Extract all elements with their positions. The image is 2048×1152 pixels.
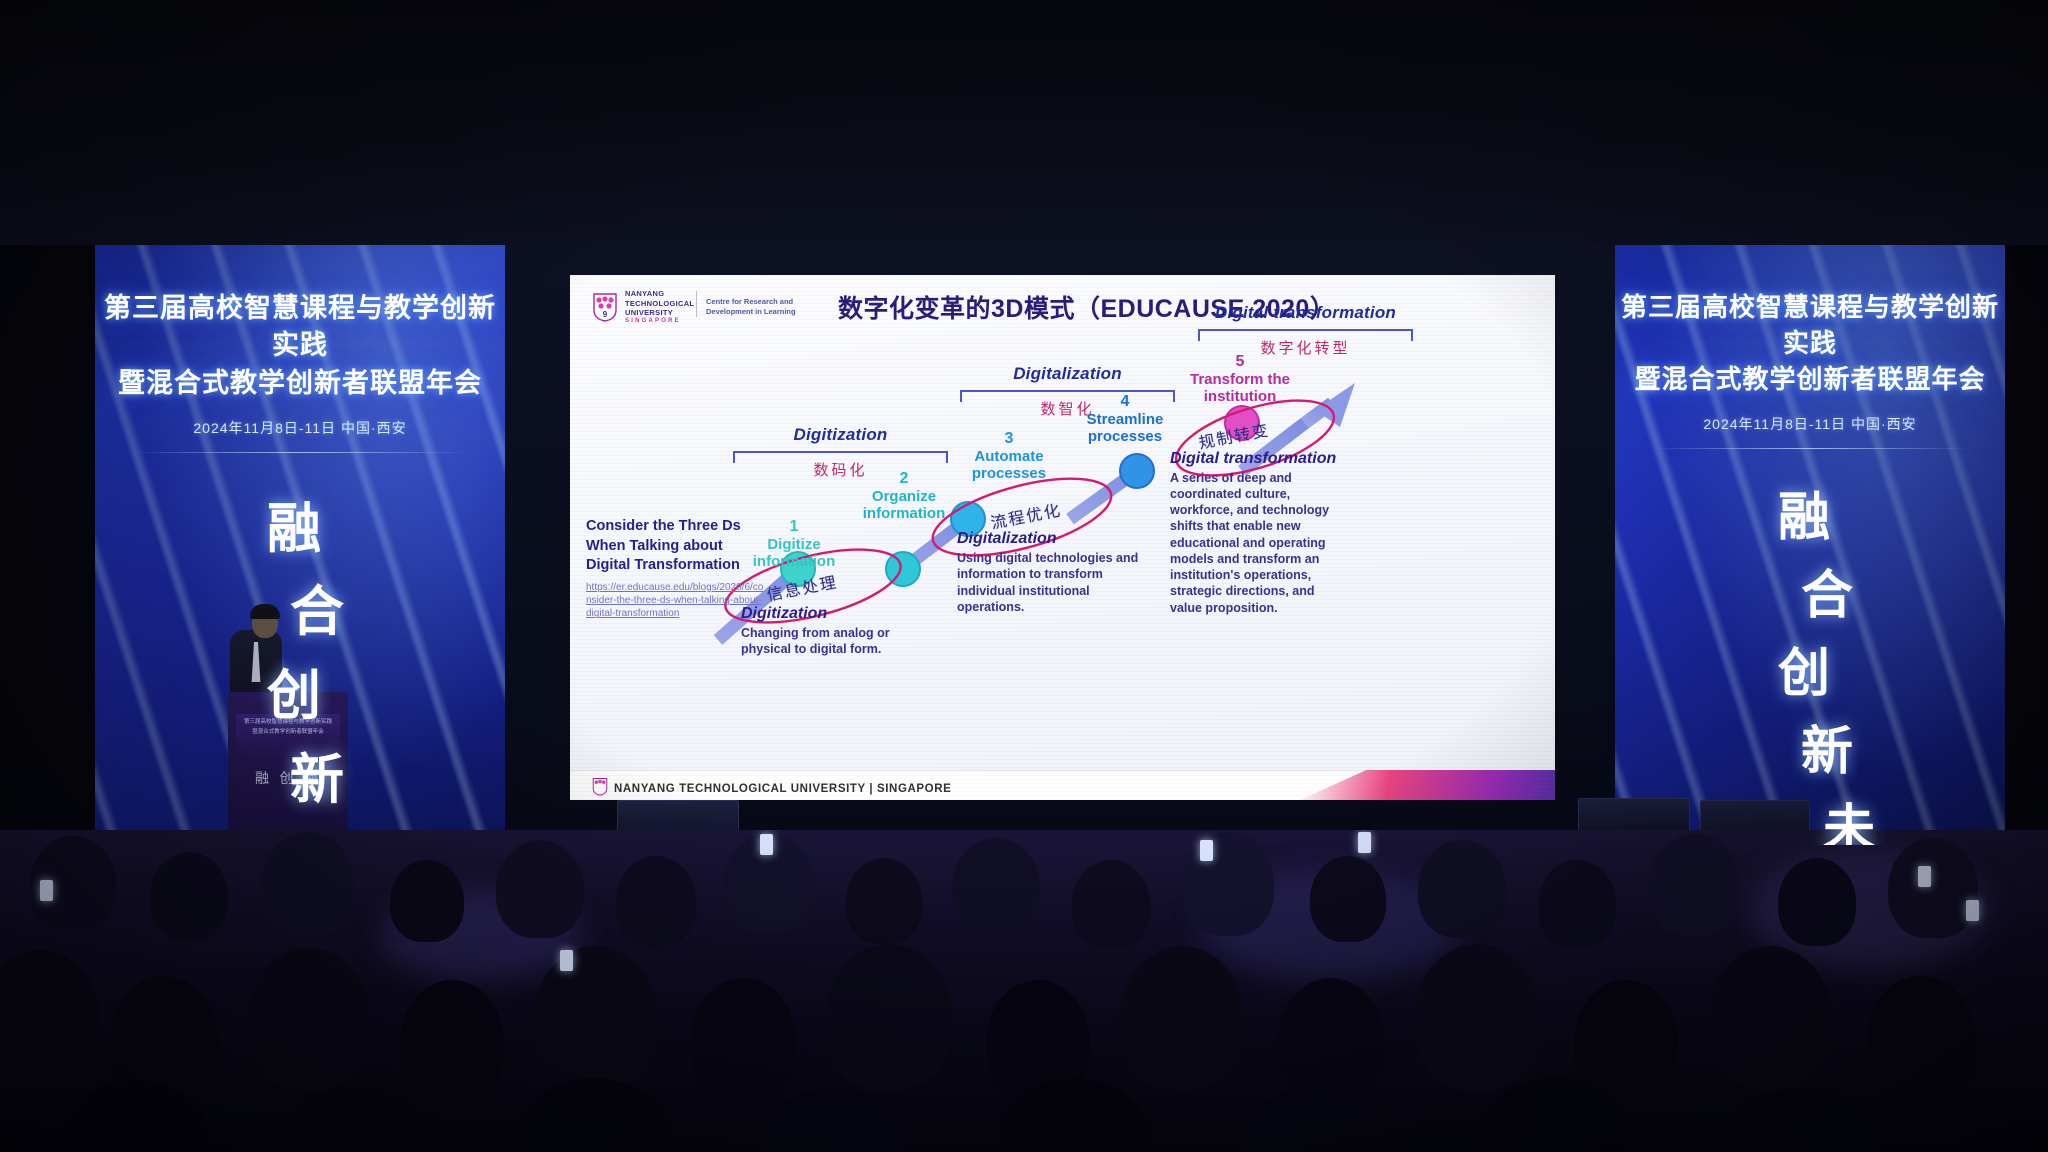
calligraphy-r-char-he: 合 [1655, 557, 2005, 635]
definition-note-digital-transformation: Digital transformation A series of deep … [1170, 450, 1348, 616]
banner-left-title-line2: 暨混合式教学创新者联盟年会 [95, 365, 505, 402]
step-5-number: 5 [1170, 353, 1310, 371]
audience-head [952, 838, 1040, 936]
banner-right-title-line1: 第三届高校智慧课程与教学创新实践 [1615, 290, 2005, 362]
audience-head [1418, 840, 1506, 938]
banner-right-calligraphy: 融 合 创 新 未 [1615, 479, 2005, 845]
slide-footer: NANYANG TECHNOLOGICAL UNIVERSITY | SINGA… [570, 770, 1555, 800]
slide-intro-block: Consider the Three Ds When Talking about… [586, 517, 764, 621]
source-url-link[interactable]: https://er.educause.edu/blogs/2020/6/con… [586, 581, 764, 621]
audience-head [1866, 976, 1976, 1106]
audience-head [150, 852, 228, 940]
step-4-text: Streamline processes [1060, 412, 1190, 446]
footer-text: NANYANG TECHNOLOGICAL UNIVERSITY | SINGA… [614, 783, 951, 795]
audience-head [826, 944, 952, 1090]
audience-head [616, 856, 696, 946]
audience-head [1310, 856, 1386, 942]
audience-head [280, 1088, 430, 1152]
step-3-number: 3 [945, 430, 1073, 448]
audience-phone-screen [1966, 900, 1979, 921]
banner-right-title-line2: 暨混合式教学创新者联盟年会 [1615, 362, 2005, 398]
presentation-slide: 9 NANYANG TECHNOLOGICAL UNIVERSITY SINGA… [570, 275, 1555, 800]
audience-head [760, 1088, 910, 1152]
step-node-2 [886, 552, 920, 586]
audience-phone-screen [760, 834, 773, 855]
banner-left-title-line1: 第三届高校智慧课程与教学创新实践 [95, 290, 505, 365]
audience-head [262, 832, 354, 936]
step-5-text: Transform the institution [1170, 372, 1310, 406]
footer-crest-icon [592, 777, 608, 800]
calligraphy-r-char-chuang: 创 [1615, 635, 2005, 713]
audience-head [496, 840, 584, 938]
note-1-title: Digitization [741, 605, 931, 623]
audience-head [390, 860, 464, 942]
audience-head [1414, 944, 1540, 1090]
banner-right-title: 第三届高校智慧课程与教学创新实践 暨混合式教学创新者联盟年会 [1615, 290, 2005, 398]
projection-screen: 9 NANYANG TECHNOLOGICAL UNIVERSITY SINGA… [505, 245, 1615, 835]
calligraphy-r-char-wei: 未 [1699, 791, 2005, 845]
audience-phone-screen [40, 880, 53, 901]
audience-phone-screen [1200, 840, 1213, 861]
audience-head [1278, 978, 1384, 1104]
calligraphy-r-char-rong: 融 [1615, 479, 2005, 557]
banner-right-date: 2024年11月8日-11日 中国·西安 [1615, 414, 2005, 434]
note-2-title: Digitalization [957, 530, 1142, 548]
auditorium-stage: 第三届高校智慧课程与教学创新实践 暨混合式教学创新者联盟年会 2024年11月8… [0, 0, 2048, 1152]
audience-head [248, 948, 370, 1090]
audience-head [1538, 860, 1616, 948]
audience-head [1720, 1088, 1880, 1152]
intro-heading: Consider the Three Ds When Talking about… [586, 517, 764, 576]
audience-head [0, 950, 100, 1090]
calligraphy-char-xin: 新 [135, 738, 505, 822]
calligraphy-char-he: 合 [135, 570, 505, 654]
calligraphy-char-rong: 融 [95, 487, 505, 571]
footer-color-bar [1300, 770, 1555, 800]
audience-head [1778, 858, 1856, 946]
audience-head [1072, 860, 1150, 948]
banner-right-divider [1650, 448, 1970, 449]
audience-head [1120, 946, 1244, 1090]
banner-left-calligraphy: 融 合 创 新 [95, 487, 505, 822]
step-label-5: 5 Transform the institution [1170, 353, 1310, 406]
ceiling-dark-area [0, 0, 2048, 245]
note-1-body: Changing from analog or physical to digi… [741, 625, 931, 658]
audience-head [846, 858, 922, 944]
audience-area [0, 830, 2048, 1152]
audience-head [1648, 834, 1740, 936]
calligraphy-char-chuang: 创 [95, 654, 505, 738]
step-3-text: Automate processes [945, 449, 1073, 483]
audience-head [690, 978, 796, 1104]
led-banner-right: 第三届高校智慧课程与教学创新实践 暨混合式教学创新者联盟年会 2024年11月8… [1615, 245, 2005, 845]
definition-note-digitization: Digitization Changing from analog or phy… [741, 605, 931, 658]
calligraphy-r-char-xin: 新 [1655, 713, 2005, 791]
banner-left-date: 2024年11月8日-11日 中国·西安 [95, 418, 505, 438]
note-3-title: Digital transformation [1170, 450, 1348, 468]
step-node-4 [1120, 454, 1154, 488]
led-banner-left: 第三届高校智慧课程与教学创新实践 暨混合式教学创新者联盟年会 2024年11月8… [95, 245, 505, 845]
audience-phone-screen [1918, 866, 1931, 887]
audience-head [520, 1078, 670, 1152]
audience-head [400, 980, 504, 1104]
audience-head [1182, 832, 1274, 936]
banner-left-divider [132, 452, 468, 453]
audience-phone-screen [560, 950, 573, 971]
audience-head [534, 946, 658, 1090]
step-2-text: Organize information [838, 489, 970, 523]
banner-left-title: 第三届高校智慧课程与教学创新实践 暨混合式教学创新者联盟年会 [95, 290, 505, 402]
audience-head [1240, 1088, 1390, 1152]
note-2-body: Using digital technologies and informati… [957, 550, 1142, 615]
footer-logo-group: NANYANG TECHNOLOGICAL UNIVERSITY | SINGA… [592, 777, 951, 800]
definition-note-digitalization: Digitalization Using digital technologie… [957, 530, 1142, 615]
step-label-3: 3 Automate processes [945, 430, 1073, 483]
audience-phone-screen [1358, 832, 1371, 853]
note-3-body: A series of deep and coordinated culture… [1170, 470, 1348, 616]
audience-head [1708, 946, 1832, 1090]
audience-head [1888, 838, 1978, 938]
